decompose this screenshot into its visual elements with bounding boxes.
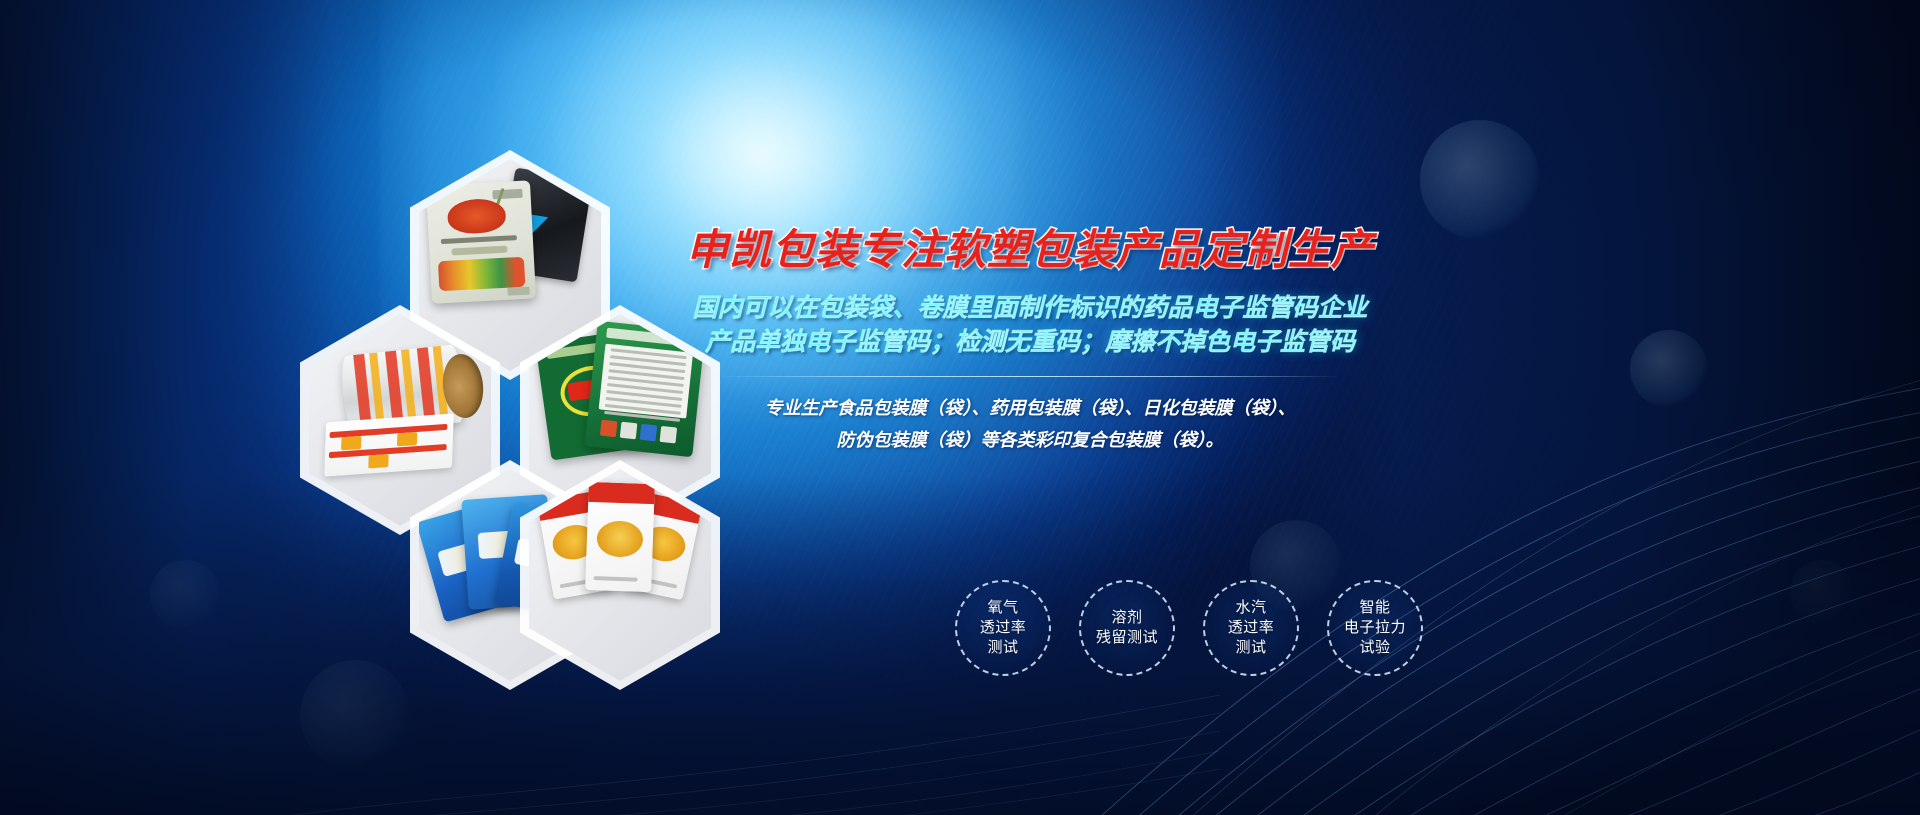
test-badge-group: 氧气 透过率 测试 溶剂 残留测试 水汽 透过率 测试 智能 电子拉力 试验 (955, 580, 1423, 676)
badge-water-vapor[interactable]: 水汽 透过率 测试 (1203, 580, 1299, 676)
product-light-pouch (426, 180, 536, 303)
badge-tensile-test[interactable]: 智能 电子拉力 试验 (1327, 580, 1423, 676)
paragraph-line-1: 专业生产食品包装膜（袋）、药用包装膜（袋）、日化包装膜（袋）、 (660, 392, 1400, 424)
promo-banner: 申凯包装专注软塑包装产品定制生产 国内可以在包装袋、卷膜里面制作标识的药品电子监… (0, 0, 1920, 815)
badge-oxygen-permeability[interactable]: 氧气 透过率 测试 (955, 580, 1051, 676)
paragraph-line-2: 防伪包装膜（袋）等各类彩印复合包装膜（袋）。 (660, 424, 1400, 456)
badge-solvent-residue[interactable]: 溶剂 残留测试 (1079, 580, 1175, 676)
subheadline-line-1: 国内可以在包装袋、卷膜里面制作标识的药品电子监管码企业 (660, 291, 1400, 326)
product-film-tail (324, 413, 454, 476)
banner-copy: 申凯包装专注软塑包装产品定制生产 国内可以在包装袋、卷膜里面制作标识的药品电子监… (660, 225, 1400, 456)
banner-paragraph: 专业生产食品包装膜（袋）、药用包装膜（袋）、日化包装膜（袋）、 防伪包装膜（袋）… (660, 392, 1400, 456)
subheadline-line-2: 产品单独电子监管码；检测无重码；摩擦不掉色电子监管码 (660, 325, 1400, 360)
banner-headline: 申凯包装专注软塑包装产品定制生产 (660, 225, 1400, 275)
copy-divider (720, 376, 1340, 377)
banner-subheadline: 国内可以在包装袋、卷膜里面制作标识的药品电子监管码企业 产品单独电子监管码；检测… (660, 291, 1400, 360)
product-plaster-2 (585, 482, 655, 592)
hexagon-product-cluster (300, 150, 720, 580)
